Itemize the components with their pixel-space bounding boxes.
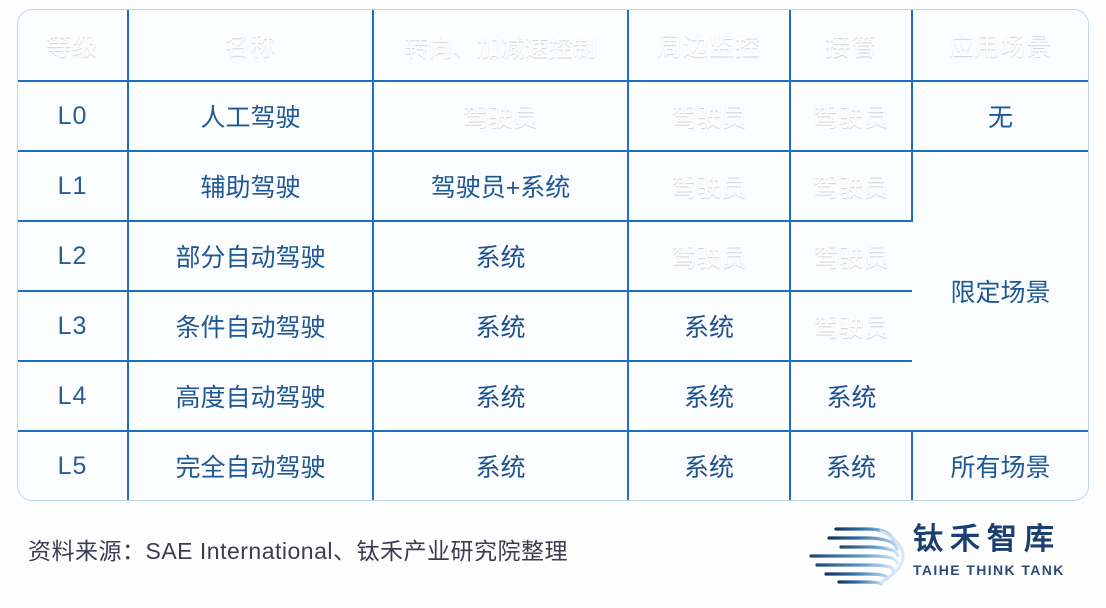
cell-name: 人工驾驶 xyxy=(128,81,373,151)
brand-name-cn: 钛禾智库 xyxy=(913,520,1085,560)
cell-steering: 驾驶员 xyxy=(373,81,628,151)
footer: 资料来源：SAE International、钛禾产业研究院整理 xyxy=(0,496,1106,608)
cell-takeover: 系统 xyxy=(790,431,912,500)
sae-levels-table: 等级 名称 转向、加减速控制 周边监控 接管 应用场景 L0 人工驾驶 驾驶员 … xyxy=(18,10,1088,500)
brand-logo: 钛禾智库 TAIHE THINK TANK xyxy=(795,518,1085,594)
column-header-scenario: 应用场景 xyxy=(912,10,1088,81)
cell-takeover: 驾驶员 xyxy=(790,291,912,361)
column-header-steering: 转向、加减速控制 xyxy=(373,10,628,81)
cell-name: 辅助驾驶 xyxy=(128,151,373,221)
table-row: L5 完全自动驾驶 系统 系统 系统 所有场景 xyxy=(18,431,1088,500)
cell-steering: 系统 xyxy=(373,221,628,291)
brand-name-en: TAIHE THINK TANK xyxy=(913,560,1085,580)
cell-level: L1 xyxy=(18,151,128,221)
source-note: 资料来源：SAE International、钛禾产业研究院整理 xyxy=(28,532,568,566)
cell-name: 完全自动驾驶 xyxy=(128,431,373,500)
speed-lines-arc-icon xyxy=(795,524,905,588)
sae-levels-table-wrapper: 等级 名称 转向、加减速控制 周边监控 接管 应用场景 L0 人工驾驶 驾驶员 … xyxy=(18,10,1088,493)
column-header-name: 名称 xyxy=(128,10,373,81)
page-root: 等级 名称 转向、加减速控制 周边监控 接管 应用场景 L0 人工驾驶 驾驶员 … xyxy=(0,0,1106,608)
column-header-takeover: 接管 xyxy=(790,10,912,81)
table-header: 等级 名称 转向、加减速控制 周边监控 接管 应用场景 xyxy=(18,10,1088,81)
column-header-monitoring: 周边监控 xyxy=(628,10,790,81)
cell-level: L0 xyxy=(18,81,128,151)
cell-monitoring: 驾驶员 xyxy=(628,81,790,151)
cell-steering: 系统 xyxy=(373,291,628,361)
cell-level: L5 xyxy=(18,431,128,500)
table-header-row: 等级 名称 转向、加减速控制 周边监控 接管 应用场景 xyxy=(18,10,1088,81)
cell-name: 高度自动驾驶 xyxy=(128,361,373,431)
table-row: L1 辅助驾驶 驾驶员+系统 驾驶员 驾驶员 限定场景 xyxy=(18,151,1088,221)
cell-scenario: 所有场景 xyxy=(912,431,1088,500)
table-body: L0 人工驾驶 驾驶员 驾驶员 驾驶员 无 L1 辅助驾驶 驾驶员+系统 驾驶员… xyxy=(18,81,1088,500)
cell-monitoring: 驾驶员 xyxy=(628,221,790,291)
cell-takeover: 驾驶员 xyxy=(790,221,912,291)
cell-takeover: 驾驶员 xyxy=(790,151,912,221)
cell-monitoring: 系统 xyxy=(628,431,790,500)
brand-logo-text: 钛禾智库 TAIHE THINK TANK xyxy=(913,520,1085,592)
cell-steering: 系统 xyxy=(373,431,628,500)
cell-monitoring: 系统 xyxy=(628,361,790,431)
cell-monitoring: 系统 xyxy=(628,291,790,361)
cell-name: 部分自动驾驶 xyxy=(128,221,373,291)
cell-steering: 驾驶员+系统 xyxy=(373,151,628,221)
cell-takeover: 驾驶员 xyxy=(790,81,912,151)
cell-name: 条件自动驾驶 xyxy=(128,291,373,361)
cell-steering: 系统 xyxy=(373,361,628,431)
cell-takeover: 系统 xyxy=(790,361,912,431)
cell-scenario-limited: 限定场景 xyxy=(912,151,1088,431)
table-row: L0 人工驾驶 驾驶员 驾驶员 驾驶员 无 xyxy=(18,81,1088,151)
column-header-level: 等级 xyxy=(18,10,128,81)
cell-level: L2 xyxy=(18,221,128,291)
cell-level: L3 xyxy=(18,291,128,361)
cell-monitoring: 驾驶员 xyxy=(628,151,790,221)
cell-scenario: 无 xyxy=(912,81,1088,151)
cell-level: L4 xyxy=(18,361,128,431)
